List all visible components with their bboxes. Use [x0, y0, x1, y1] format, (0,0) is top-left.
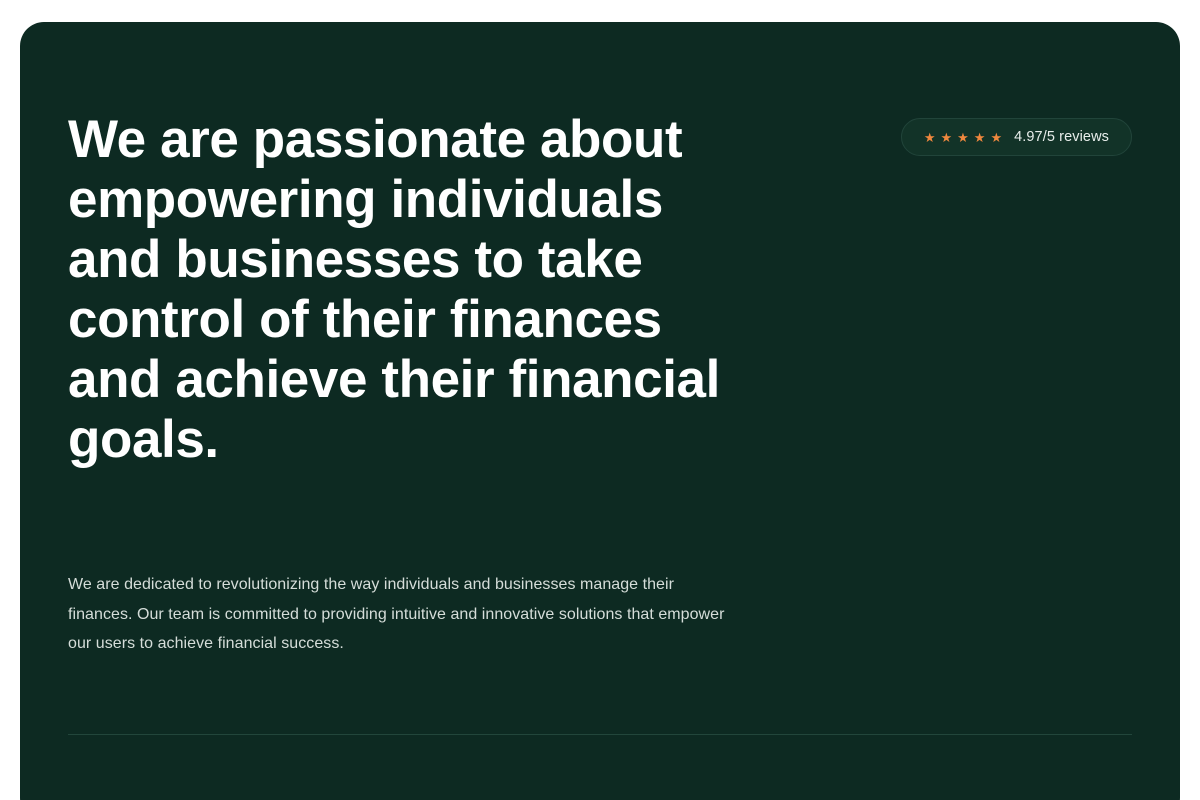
- star-icon: ★: [974, 131, 986, 144]
- rating-label: 4.97/5 reviews: [1014, 130, 1109, 145]
- hero-heading: We are passionate about empowering indiv…: [68, 110, 768, 470]
- star-icon: ★: [957, 131, 969, 144]
- star-rating: ★ ★ ★ ★ ★: [924, 131, 1002, 144]
- page-root: ★ ★ ★ ★ ★ 4.97/5 reviews We are passiona…: [0, 0, 1200, 800]
- star-icon: ★: [940, 131, 952, 144]
- hero-content-column: ★ ★ ★ ★ ★ 4.97/5 reviews We are passiona…: [68, 22, 1132, 800]
- hero-paragraph: We are dedicated to revolutionizing the …: [68, 570, 740, 659]
- hero-panel: ★ ★ ★ ★ ★ 4.97/5 reviews We are passiona…: [20, 22, 1180, 800]
- rating-badge[interactable]: ★ ★ ★ ★ ★ 4.97/5 reviews: [901, 118, 1132, 156]
- star-icon: ★: [924, 131, 936, 144]
- section-divider: [68, 734, 1132, 735]
- star-icon: ★: [990, 131, 1002, 144]
